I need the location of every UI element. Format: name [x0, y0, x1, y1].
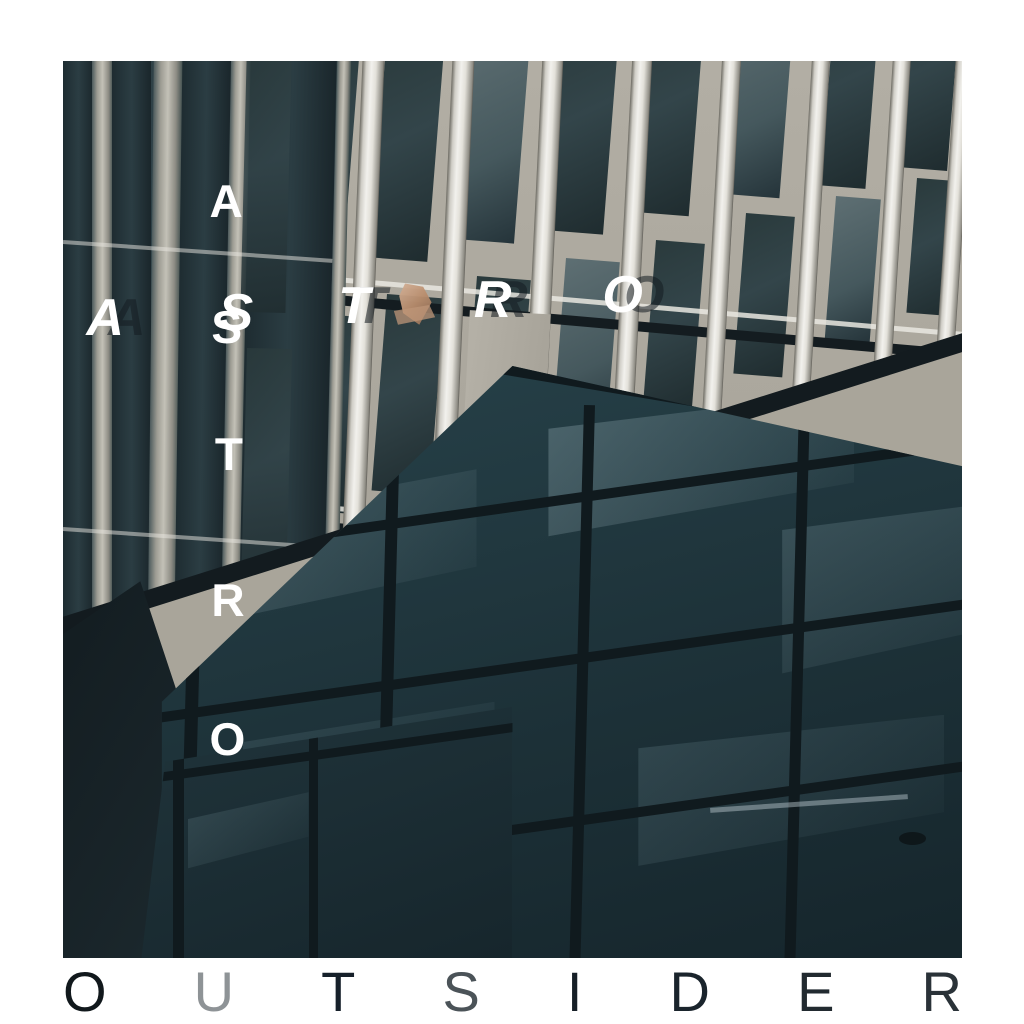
- horizontal-letter-r: R: [474, 274, 512, 326]
- title-letter-u: U: [194, 964, 234, 1020]
- vertical-letter-a: A: [210, 178, 243, 224]
- title-letter-d: D: [670, 964, 710, 1020]
- horizontal-letter-a: A: [86, 292, 124, 344]
- horizontal-letter-o: O: [602, 269, 642, 321]
- vertical-letter-o: O: [210, 716, 246, 762]
- vertical-letter-t: T: [215, 431, 243, 477]
- horizontal-letter-t: T: [338, 280, 370, 332]
- title-letter-i: I: [567, 964, 583, 1020]
- title-letter-r: R: [922, 964, 962, 1020]
- title-letter-t: T: [321, 964, 355, 1020]
- album-cover: A S T R O A A S T T R R O O O U T S I D …: [0, 0, 1024, 1024]
- horizontal-letter-s: S: [219, 287, 254, 339]
- title-letter-e: E: [797, 964, 834, 1020]
- title-letter-s: S: [442, 964, 479, 1020]
- album-title: O U T S I D E R: [63, 963, 962, 1021]
- cover-photograph: A S T R O A A S T T R R O O: [63, 61, 962, 958]
- title-letter-o: O: [63, 964, 107, 1020]
- ceiling-fixture-detail: [899, 832, 926, 845]
- vertical-letter-r: R: [211, 577, 244, 623]
